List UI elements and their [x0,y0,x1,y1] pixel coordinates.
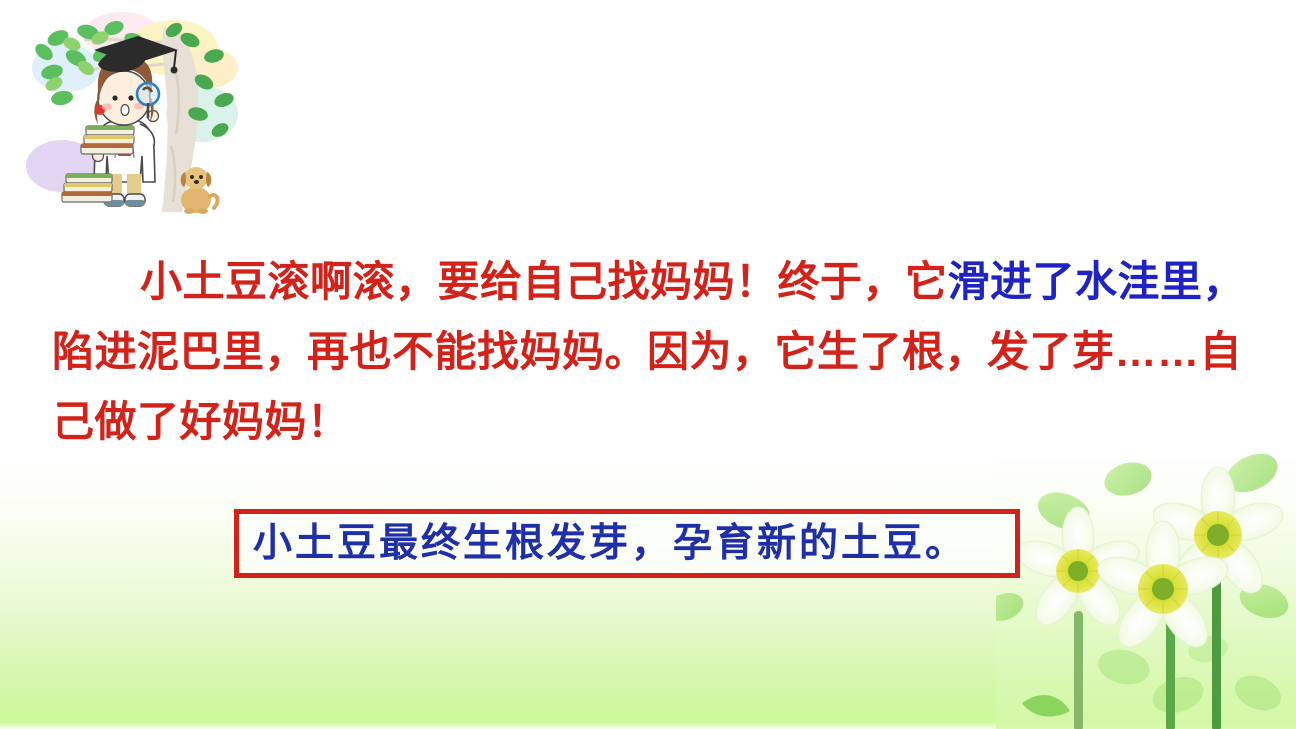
student-with-books-and-dog-illustration [14,6,248,228]
daffodil-flowers-decoration [996,439,1296,729]
slide-canvas: 小土豆滚啊滚，要给自己找妈妈！终于，它滑进了水洼里，陷进泥巴里，再也不能找妈妈。… [0,0,1296,729]
story-line1-red-ta: 它 [905,258,948,305]
story-line2: 陷进泥巴里，再也不能找妈妈。因为，它生了根，发了芽…… [52,328,1200,375]
story-paragraph: 小土豆滚啊滚，要给自己找妈妈！终于，它滑进了水洼里，陷进泥巴里，再也不能找妈妈。… [52,247,1267,457]
story-line1-blue: 滑进了水洼里， [948,258,1246,305]
summary-text: 小土豆最终生根发芽，孕育新的土豆。 [239,522,967,566]
story-line1-red-start: 小土豆滚啊滚，要给自己找妈妈！终于， [140,258,905,305]
summary-callout-box: 小土豆最终生根发芽，孕育新的土豆。 [234,509,1020,578]
